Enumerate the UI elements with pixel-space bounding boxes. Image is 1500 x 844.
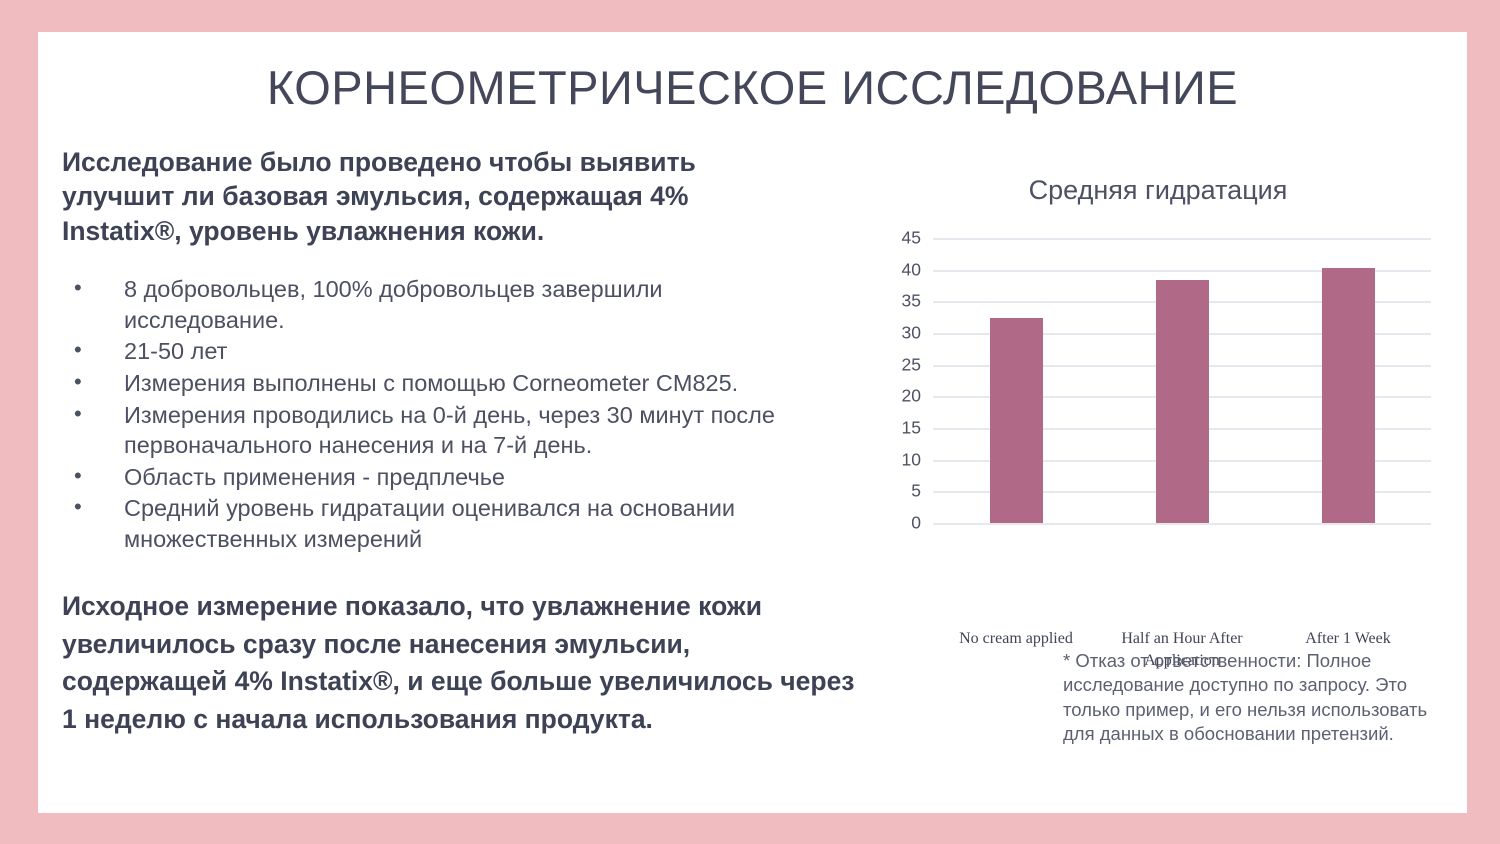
disclaimer-text: * Отказ от ответственности: Полное иссле… — [1063, 649, 1463, 747]
list-item: •Область применения - предплечье — [62, 462, 792, 493]
bullet-icon: • — [74, 368, 82, 397]
list-item-label: 8 добровольцев, 100% добровольцев заверш… — [124, 276, 663, 333]
list-item-label: Область применения - предплечье — [124, 464, 505, 490]
y-axis-tick-label: 0 — [861, 513, 921, 534]
y-axis-tick-label: 40 — [861, 259, 921, 280]
list-item: •8 добровольцев, 100% добровольцев завер… — [62, 274, 792, 335]
chart-gridline — [933, 238, 1431, 240]
chart-title: Средняя гидратация — [858, 175, 1458, 206]
list-item-label: Измерения проводились на 0-й день, через… — [124, 402, 775, 459]
left-content-column: Исследование было проведено чтобы выявит… — [62, 145, 902, 739]
bullet-icon: • — [74, 336, 82, 365]
bullet-icon: • — [74, 400, 82, 429]
chart-bar — [990, 318, 1043, 523]
slide-panel: КОРНЕОМЕТРИЧЕСКОЕ ИССЛЕДОВАНИЕ Исследова… — [38, 32, 1467, 813]
chart-gridline — [933, 523, 1431, 525]
bullet-icon: • — [74, 493, 82, 522]
list-item: •Измерения проводились на 0-й день, чере… — [62, 400, 792, 461]
list-item: •21-50 лет — [62, 336, 792, 367]
y-axis-tick-label: 30 — [861, 323, 921, 344]
chart-bar — [1322, 268, 1375, 523]
bullet-icon: • — [74, 462, 82, 491]
y-axis-tick-label: 5 — [861, 481, 921, 502]
page-title: КОРНЕОМЕТРИЧЕСКОЕ ИССЛЕДОВАНИЕ — [38, 60, 1467, 115]
list-item-label: Средний уровень гидратации оценивался на… — [124, 495, 735, 552]
x-axis-tick-label: After 1 Week — [1265, 628, 1431, 650]
chart-bar — [1156, 280, 1209, 523]
lead-paragraph: Исследование было проведено чтобы выявит… — [62, 145, 782, 248]
chart-plot-area: 051015202530354045No cream appliedHalf a… — [933, 238, 1431, 523]
bullet-icon: • — [74, 274, 82, 303]
y-axis-tick-label: 10 — [861, 449, 921, 470]
hydration-bar-chart: Средняя гидратация 051015202530354045No … — [858, 145, 1458, 595]
list-item-label: 21-50 лет — [124, 338, 227, 364]
conclusion-paragraph: Исходное измерение показало, что увлажне… — [62, 588, 862, 739]
y-axis-tick-label: 45 — [861, 228, 921, 249]
y-axis-tick-label: 35 — [861, 291, 921, 312]
y-axis-tick-label: 20 — [861, 386, 921, 407]
y-axis-tick-label: 15 — [861, 418, 921, 439]
y-axis-tick-label: 25 — [861, 354, 921, 375]
list-item: •Измерения выполнены с помощью Corneomet… — [62, 368, 792, 399]
list-item-label: Измерения выполнены с помощью Corneomete… — [124, 370, 738, 396]
study-details-list: •8 добровольцев, 100% добровольцев завер… — [62, 274, 792, 554]
list-item: •Средний уровень гидратации оценивался н… — [62, 493, 792, 554]
x-axis-tick-label: No cream applied — [933, 628, 1099, 650]
